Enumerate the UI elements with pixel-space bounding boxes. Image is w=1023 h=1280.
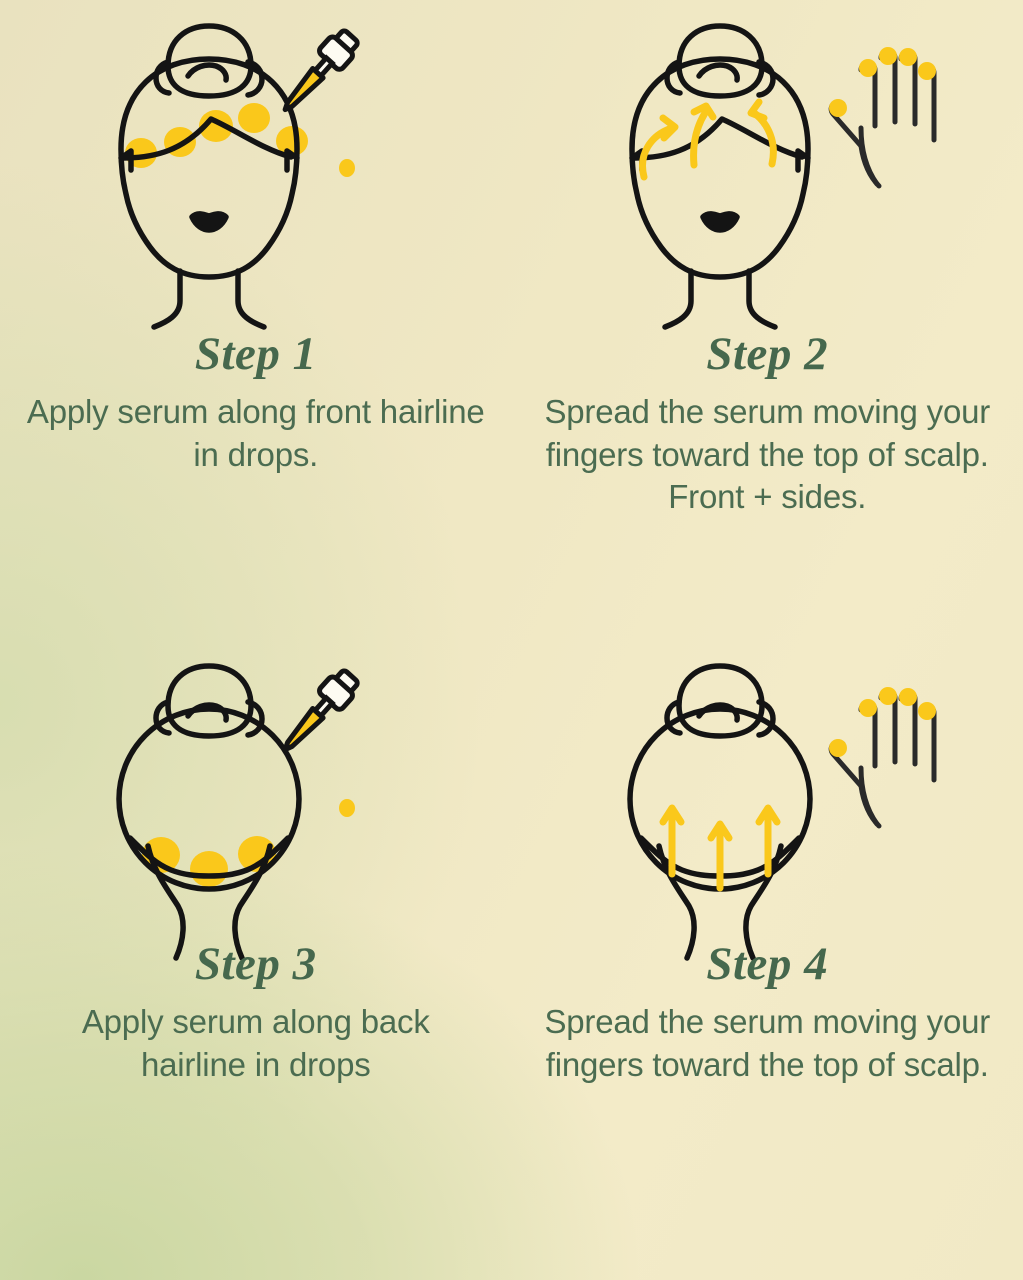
step-title: Step 4 bbox=[538, 940, 998, 989]
dropper-icon bbox=[274, 666, 363, 817]
caption-step-2: Step 2 Spread the serum moving your fing… bbox=[512, 330, 1023, 518]
step-card-1: Step 1 Apply serum along front hairline … bbox=[0, 0, 512, 640]
step-description: Spread the serum moving your fingers tow… bbox=[538, 391, 998, 518]
caption-step-3: Step 3 Apply serum along back hairline i… bbox=[0, 940, 512, 1086]
curved-arrow-icon bbox=[643, 102, 774, 177]
hand-icon bbox=[829, 47, 936, 186]
illustration-step-3 bbox=[76, 658, 436, 958]
serum-drop-icon bbox=[125, 103, 308, 168]
illustration-step-2 bbox=[587, 18, 947, 318]
straight-arrow-icon bbox=[663, 808, 777, 888]
illustration-step-4 bbox=[587, 658, 947, 958]
step-description: Spread the serum moving your fingers tow… bbox=[538, 1001, 998, 1085]
serum-drop-icon bbox=[339, 159, 355, 177]
step-title: Step 2 bbox=[538, 330, 998, 379]
hand-icon bbox=[829, 687, 936, 826]
step-description: Apply serum along back hairline in drops bbox=[26, 1001, 486, 1085]
serum-drop-icon bbox=[339, 799, 355, 817]
caption-step-4: Step 4 Spread the serum moving your fing… bbox=[512, 940, 1023, 1086]
step-card-3: Step 3 Apply serum along back hairline i… bbox=[0, 640, 512, 1280]
step-title: Step 3 bbox=[26, 940, 486, 989]
step-card-2: Step 2 Spread the serum moving your fing… bbox=[512, 0, 1023, 640]
step-title: Step 1 bbox=[26, 330, 486, 379]
illustration-step-1 bbox=[76, 18, 436, 318]
steps-grid: Step 1 Apply serum along front hairline … bbox=[0, 0, 1023, 1280]
step-card-4: Step 4 Spread the serum moving your fing… bbox=[512, 640, 1023, 1280]
step-description: Apply serum along front hairline in drop… bbox=[26, 391, 486, 475]
caption-step-1: Step 1 Apply serum along front hairline … bbox=[0, 330, 512, 476]
